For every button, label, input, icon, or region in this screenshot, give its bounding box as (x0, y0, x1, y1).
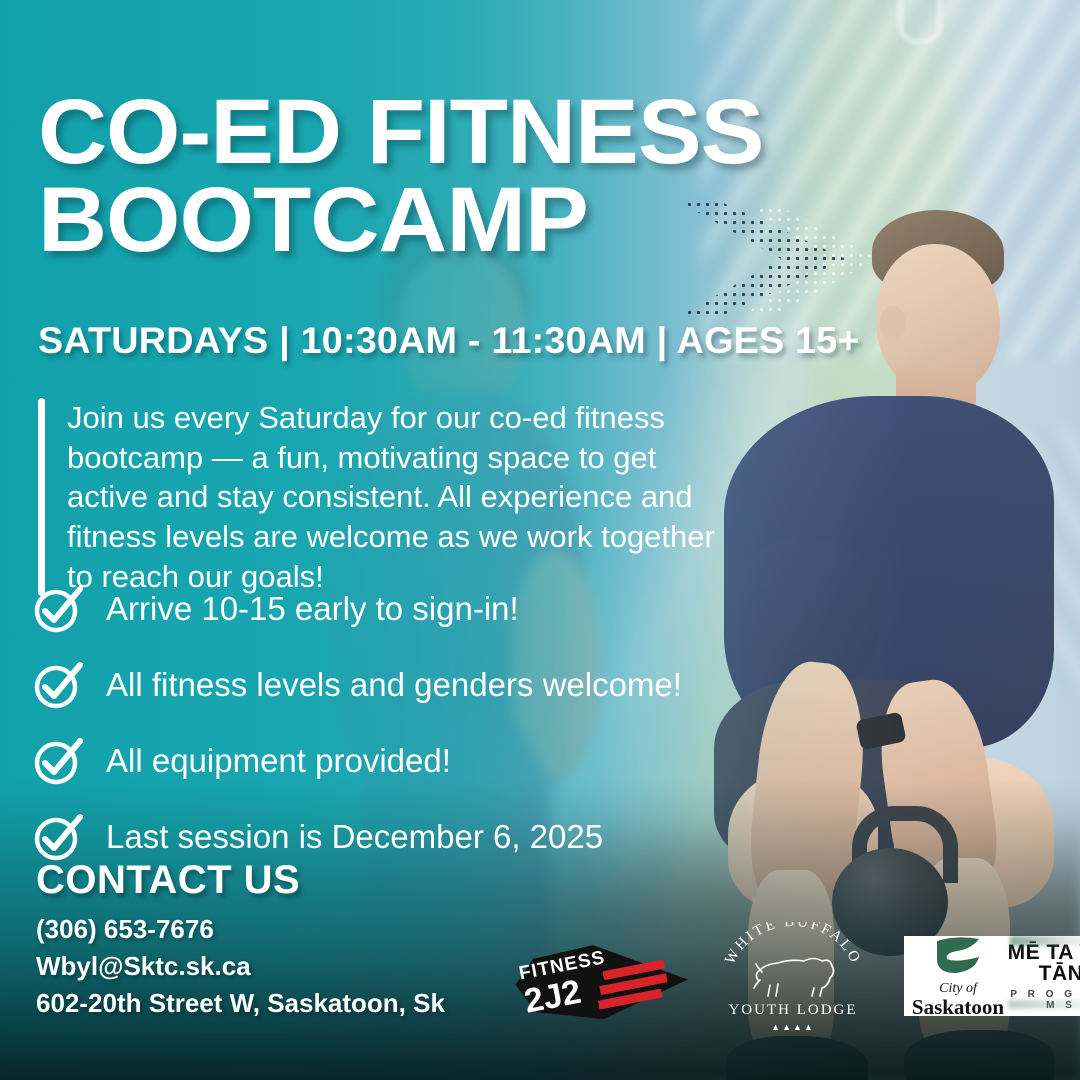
accent-bar (38, 398, 45, 596)
me-ta-we-tan-lockup: MĒ TA WĒ TĀN P R O G R A M S (1006, 942, 1080, 1011)
me-ta-we-tan-text: MĒ TA WĒ TĀN (1006, 942, 1080, 984)
title-line-1: CO-ED FITNESS (38, 81, 763, 183)
list-item: All fitness levels and genders welcome! (32, 654, 772, 716)
list-item-label: All fitness levels and genders welcome! (106, 666, 682, 704)
fitness-bootcamp-poster: CO-ED FITNESS BOOTCAMP SATURDAYS | 10:30… (0, 0, 1080, 1080)
white-buffalo-sub-text: YOUTH LODGE (718, 1002, 868, 1019)
list-item: Arrive 10-15 early to sign-in! (32, 578, 772, 640)
saskatoon-leaf-icon (935, 935, 981, 975)
contact-phone[interactable]: (306) 653-7676 (36, 911, 445, 948)
check-circle-icon (32, 811, 84, 863)
check-circle-icon (32, 735, 84, 787)
list-item-label: Arrive 10-15 early to sign-in! (106, 590, 519, 628)
white-buffalo-youth-lodge-logo: WHITE BUFFALO YOUTH LODGE ▲▲▲▲ (718, 922, 868, 1032)
page-title: CO-ED FITNESS BOOTCAMP (38, 88, 912, 265)
contact-heading: CONTACT US (36, 858, 445, 903)
description-block: Join us every Saturday for our co-ed fit… (38, 398, 738, 596)
title-line-2: BOOTCAMP (38, 176, 912, 264)
list-item-label: All equipment provided! (106, 742, 451, 780)
list-item-label: Last session is December 6, 2025 (106, 818, 603, 856)
feature-checklist: Arrive 10-15 early to sign-in! All fitne… (32, 578, 772, 882)
buffalo-icon (744, 950, 844, 1000)
poster-content: CO-ED FITNESS BOOTCAMP SATURDAYS | 10:30… (0, 0, 1080, 1080)
check-circle-icon (32, 583, 84, 635)
list-item: All equipment provided! (32, 730, 772, 792)
schedule-subtitle: SATURDAYS | 10:30AM - 11:30AM | AGES 15+ (38, 320, 860, 362)
brush-stroke-bottom (1008, 1000, 1080, 1009)
sponsor-logo-row: FITNESS 2J2 WHITE BUFFALO YOUTH LODGE (512, 922, 1062, 1032)
brush-stroke-top (1010, 936, 1080, 946)
contact-block: CONTACT US (306) 653-7676 Wbyl@Sktc.sk.c… (36, 858, 445, 1022)
check-circle-icon (32, 659, 84, 711)
triangle-ornament-icon: ▲▲▲▲ (718, 1022, 868, 1032)
description-text: Join us every Saturday for our co-ed fit… (67, 398, 738, 596)
contact-address: 602-20th Street W, Saskatoon, Sk (36, 985, 445, 1022)
fitness-2j2-logo: FITNESS 2J2 (512, 940, 688, 1026)
contact-email[interactable]: Wbyl@Sktc.sk.ca (36, 948, 445, 985)
saskatoon-text: Saskatoon (910, 997, 1006, 1018)
city-of-saskatoon-me-ta-we-tan-logo: City of Saskatoon MĒ TA WĒ TĀN P R O G R… (904, 936, 1080, 1016)
city-of-saskatoon-lockup: City of Saskatoon (910, 935, 1006, 1018)
